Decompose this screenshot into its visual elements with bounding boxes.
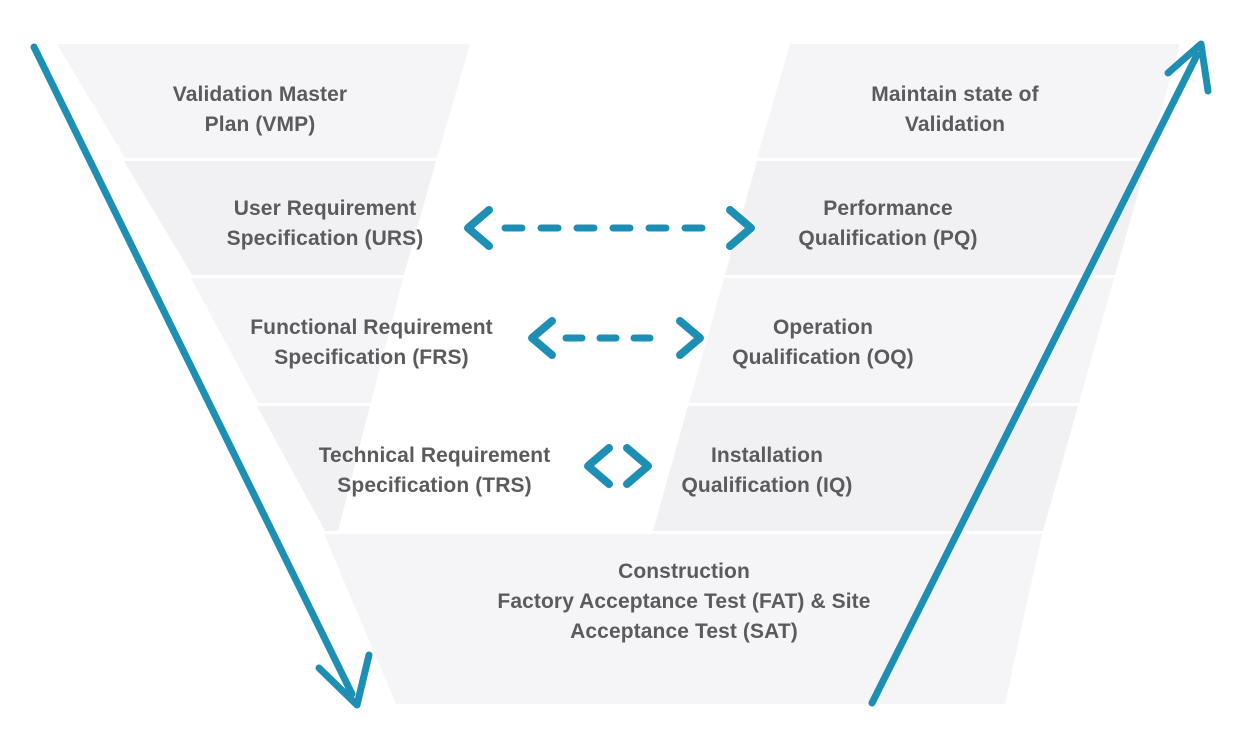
frs-oq-left-arrowhead-icon [532, 321, 552, 355]
frs-oq-right-arrowhead-icon [680, 321, 700, 355]
panel-trs [257, 406, 370, 531]
panel-pq [725, 161, 1147, 275]
panel-construction [324, 534, 1042, 704]
trs-iq-connector [588, 448, 648, 484]
panel-vmp [57, 44, 470, 158]
panel-urs [124, 161, 436, 275]
left-branch-panels [57, 44, 470, 531]
urs-pq-left-arrowhead-icon [468, 210, 489, 246]
frs-oq-connector [532, 321, 700, 355]
panel-frs [191, 278, 403, 403]
trs-iq-right-arrowhead-icon [627, 448, 648, 484]
v-model-canvas: PQ : long dashed double arrow --> OQ : s… [0, 0, 1253, 746]
urs-pq-connector [468, 210, 751, 246]
panel-maintain-state-of-validation [757, 44, 1180, 158]
v-model-diagram: PQ : long dashed double arrow --> OQ : s… [0, 0, 1253, 746]
right-branch-panels [653, 44, 1180, 531]
trs-iq-left-arrowhead-icon [588, 448, 609, 484]
